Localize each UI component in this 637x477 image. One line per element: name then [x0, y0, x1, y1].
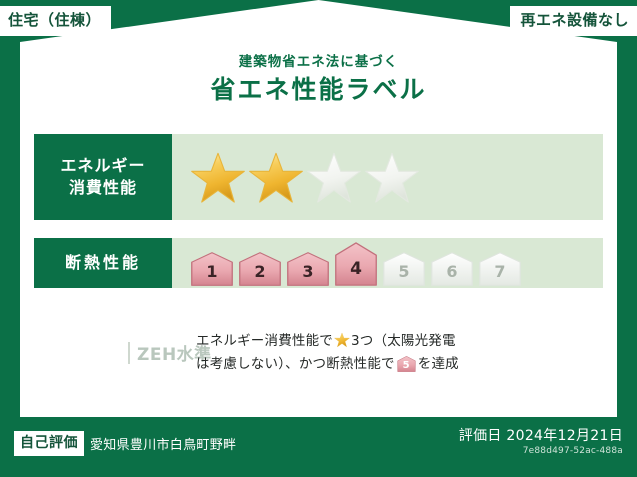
zeh-description-line2: は考慮しない）、かつ断熱性能で5を達成: [196, 353, 459, 376]
zeh-badge: ZEH水準: [34, 340, 180, 365]
energy-performance-label: 住宅（住棟） 再エネ設備なし 建築物省エネ法に基づく 省エネ性能ラベル エネルギ…: [0, 0, 637, 477]
star-filled: [248, 150, 304, 204]
insulation-grade-5: 5: [382, 252, 426, 286]
star-icon-empty: [364, 150, 420, 206]
insulation-grade-1: 1: [190, 252, 234, 286]
renewable-energy-tag: 再エネ設備なし: [510, 6, 637, 36]
insulation-grade-2: 2: [238, 252, 282, 286]
property-address: 愛知県豊川市白鳥町野畔: [90, 434, 236, 453]
evaluation-date: 評価日 2024年12月21日: [459, 427, 623, 445]
self-evaluation-badge: 自己評価: [14, 431, 84, 456]
insulation-grade-6: 6: [430, 252, 474, 286]
star-icon-filled: [334, 332, 350, 348]
insulation-performance-label-cell: 断熱性能: [34, 238, 172, 288]
insulation-grade-3: 3: [286, 252, 330, 286]
inline-grade-house-icon: 5: [397, 356, 416, 372]
insulation-grade-number: 1: [206, 264, 217, 286]
building-type-tag: 住宅（住棟）: [0, 6, 111, 36]
insulation-label: 断熱性能: [65, 252, 141, 274]
zeh-standard-block: ZEH水準 エネルギー消費性能で3つ（太陽光発電 は考慮しない）、かつ断熱性能で…: [34, 330, 603, 376]
zeh-description: エネルギー消費性能で3つ（太陽光発電 は考慮しない）、かつ断熱性能で5を達成: [196, 330, 459, 376]
zeh-desc2-text-b: を達成: [418, 356, 459, 372]
zeh-description-line1: エネルギー消費性能で3つ（太陽光発電: [196, 330, 459, 353]
star-rating: [190, 150, 420, 204]
energy-performance-row: エネルギー 消費性能: [34, 134, 603, 220]
insulation-performance-value-cell: 1234567: [172, 238, 603, 288]
star-empty: [364, 150, 420, 204]
zeh-desc1-text-a: エネルギー消費性能で: [196, 333, 333, 349]
energy-performance-value-cell: [172, 134, 603, 220]
insulation-grade-number: 6: [446, 264, 457, 286]
insulation-grade-4: 4: [334, 242, 378, 286]
star-filled: [190, 150, 246, 204]
insulation-grade-number: 5: [398, 264, 409, 286]
energy-performance-label-cell: エネルギー 消費性能: [34, 134, 172, 220]
zeh-desc2-text-a: は考慮しない）、かつ断熱性能で: [196, 356, 395, 372]
footer-left-group: 自己評価 愛知県豊川市白鳥町野畔: [14, 431, 236, 456]
energy-label-line1: エネルギー: [60, 155, 145, 177]
label-title-block: 建築物省エネ法に基づく 省エネ性能ラベル: [0, 55, 637, 103]
insulation-grade-number: 2: [254, 264, 265, 286]
star-icon-filled: [190, 150, 246, 206]
zeh-desc1-text-b: 3つ（太陽光発電: [351, 333, 456, 349]
insulation-performance-row: 断熱性能 1234567: [34, 238, 603, 288]
zeh-check-icon: [128, 342, 130, 364]
insulation-grade-number: 3: [302, 264, 313, 286]
title-subtitle: 建築物省エネ法に基づく: [0, 55, 637, 70]
footer-right-group: 評価日 2024年12月21日 7e88d497-52ac-488a: [459, 427, 623, 458]
star-empty: [306, 150, 362, 204]
insulation-grade-7: 7: [478, 252, 522, 286]
insulation-grade-number: 4: [350, 261, 362, 286]
insulation-grade-number: 7: [494, 264, 505, 286]
star-icon-empty: [306, 150, 362, 206]
inline-grade-number: 5: [397, 356, 416, 372]
inline-star-icon: [334, 332, 350, 348]
page-title: 省エネ性能ラベル: [0, 76, 637, 104]
energy-label-line2: 消費性能: [69, 177, 137, 199]
document-id: 7e88d497-52ac-488a: [459, 446, 623, 458]
star-icon-filled: [248, 150, 304, 206]
insulation-grade-scale: 1234567: [190, 240, 522, 286]
label-footer: 自己評価 愛知県豊川市白鳥町野畔 評価日 2024年12月21日 7e88d49…: [0, 417, 637, 477]
